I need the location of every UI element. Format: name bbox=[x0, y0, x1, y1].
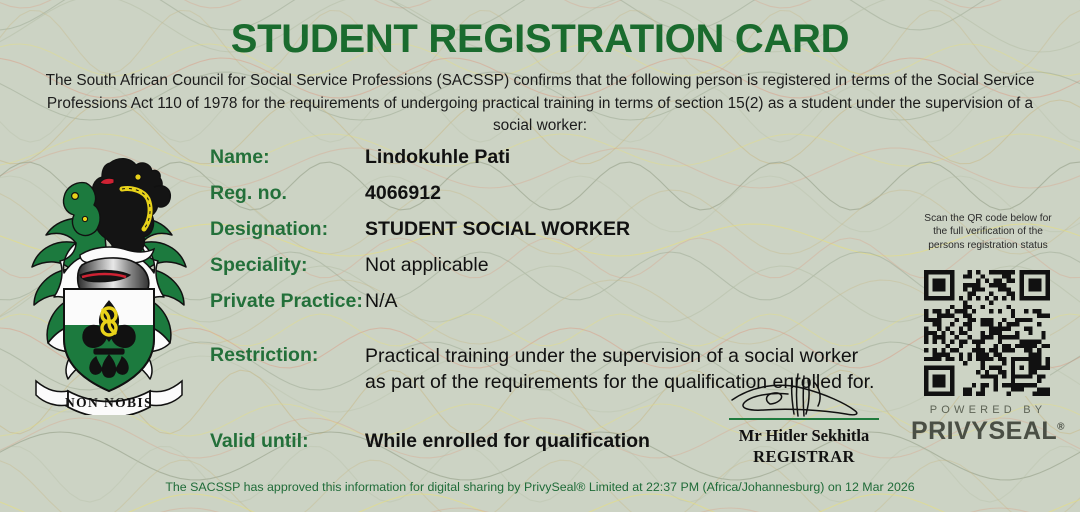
coat-of-arms-emblem: NON NOBIS bbox=[18, 143, 200, 415]
field-row-name: Name: Lindokuhle Pati bbox=[210, 146, 750, 182]
field-label: Private Practice: bbox=[210, 290, 363, 313]
field-row-designation: Designation: STUDENT SOCIAL WORKER bbox=[210, 218, 750, 254]
field-row-restriction: Restriction: Practical training under th… bbox=[210, 344, 750, 402]
field-value: Lindokuhle Pati bbox=[365, 146, 510, 169]
registrar-name: Mr Hitler Sekhitla bbox=[718, 426, 890, 447]
privyseal-wordmark: PRIVYSEAL® bbox=[900, 418, 1076, 445]
qr-code[interactable] bbox=[917, 270, 1057, 396]
signature-block: Mr Hitler Sekhitla REGISTRAR bbox=[718, 370, 890, 467]
registrar-role: REGISTRAR bbox=[718, 447, 890, 468]
field-label: Speciality: bbox=[210, 254, 308, 277]
page-title: STUDENT REGISTRATION CARD bbox=[0, 18, 1080, 60]
approval-footer: The SACSSP has approved this information… bbox=[0, 480, 1080, 494]
field-value: STUDENT SOCIAL WORKER bbox=[365, 218, 630, 241]
intro-paragraph: The South African Council for Social Ser… bbox=[30, 70, 1050, 138]
shield bbox=[58, 289, 160, 405]
powered-by-label: POWERED BY bbox=[900, 404, 1076, 417]
motto-text: NON NOBIS bbox=[65, 395, 153, 410]
qr-note-line-2: the full verification of the bbox=[933, 226, 1043, 237]
field-label: Designation: bbox=[210, 218, 328, 241]
field-value: 4066912 bbox=[365, 182, 441, 205]
restriction-line-1: Practical training under the supervision… bbox=[365, 345, 858, 367]
qr-note-line-1: Scan the QR code below for bbox=[924, 213, 1051, 224]
registered-mark: ® bbox=[1057, 422, 1065, 433]
handwritten-signature bbox=[718, 370, 890, 418]
qr-instruction-text: Scan the QR code below for the full veri… bbox=[900, 212, 1076, 252]
field-row-speciality: Speciality: Not applicable bbox=[210, 254, 750, 290]
field-row-reg-no: Reg. no. 4066912 bbox=[210, 182, 750, 218]
field-value: N/A bbox=[365, 290, 398, 313]
field-label: Valid until: bbox=[210, 430, 309, 453]
signature-rule bbox=[729, 418, 879, 420]
field-value: Not applicable bbox=[365, 254, 489, 277]
field-row-private-practice: Private Practice: N/A bbox=[210, 290, 750, 326]
student-registration-card: STUDENT REGISTRATION CARD The South Afri… bbox=[0, 0, 1080, 512]
privyseal-branding: POWERED BY PRIVYSEAL® bbox=[900, 404, 1076, 445]
qr-note-line-3: persons registration status bbox=[928, 240, 1047, 251]
field-row-valid-until: Valid until: While enrolled for qualific… bbox=[210, 430, 750, 466]
field-label: Restriction: bbox=[210, 344, 318, 367]
field-value: While enrolled for qualification bbox=[365, 430, 650, 453]
field-label: Reg. no. bbox=[210, 182, 287, 205]
brand-text: PRIVYSEAL bbox=[911, 417, 1057, 445]
field-label: Name: bbox=[210, 146, 270, 169]
registration-fields: Name: Lindokuhle Pati Reg. no. 4066912 D… bbox=[210, 146, 750, 466]
